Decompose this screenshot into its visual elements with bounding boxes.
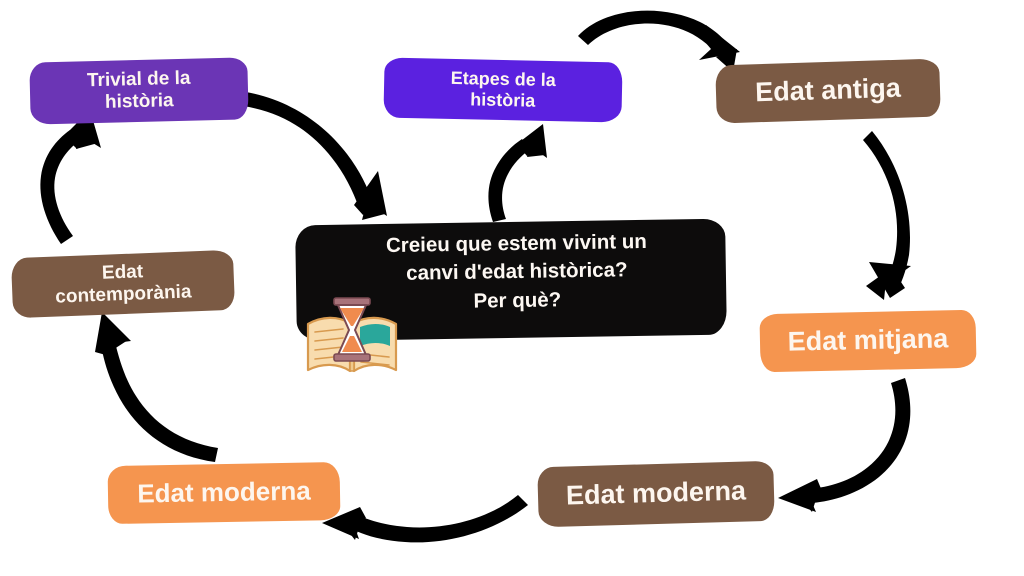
arrow-mitjana-to-moderna-brown xyxy=(778,378,910,512)
arrow-center-to-etapes xyxy=(488,124,547,222)
node-label: Trivial de lahistòria xyxy=(87,68,192,114)
node-label: Edat moderna xyxy=(137,477,311,510)
node-label: Edat antiga xyxy=(755,73,901,109)
node-label: Edat mitjana xyxy=(787,324,948,358)
node-label: Edatcontemporània xyxy=(54,260,192,309)
node-edat-contemporania[interactable]: Edatcontemporània xyxy=(11,250,235,318)
node-label: Edat moderna xyxy=(566,476,747,512)
node-edat-moderna-orange[interactable]: Edat moderna xyxy=(108,462,341,524)
arrow-moderna-brown-to-orange xyxy=(322,495,528,542)
book-hourglass-icon xyxy=(302,296,402,380)
cycle-diagram-canvas: Trivial de lahistòria Etapes de lahistòr… xyxy=(0,0,1024,576)
arrow-antiga-to-mitjana xyxy=(863,131,911,300)
node-trivial-de-la-historia[interactable]: Trivial de lahistòria xyxy=(29,57,248,124)
node-etapes-de-la-historia[interactable]: Etapes de lahistòria xyxy=(383,58,622,123)
arrow-moderna-orange-to-contemporania xyxy=(95,312,218,462)
node-edat-antiga[interactable]: Edat antiga xyxy=(715,58,941,123)
node-edat-moderna-brown[interactable]: Edat moderna xyxy=(537,461,775,528)
arrow-contemporania-to-trivial xyxy=(40,110,101,244)
node-edat-mitjana[interactable]: Edat mitjana xyxy=(759,310,976,373)
arrow-trivial-to-center xyxy=(243,92,387,220)
node-label: Etapes de lahistòria xyxy=(450,68,556,112)
